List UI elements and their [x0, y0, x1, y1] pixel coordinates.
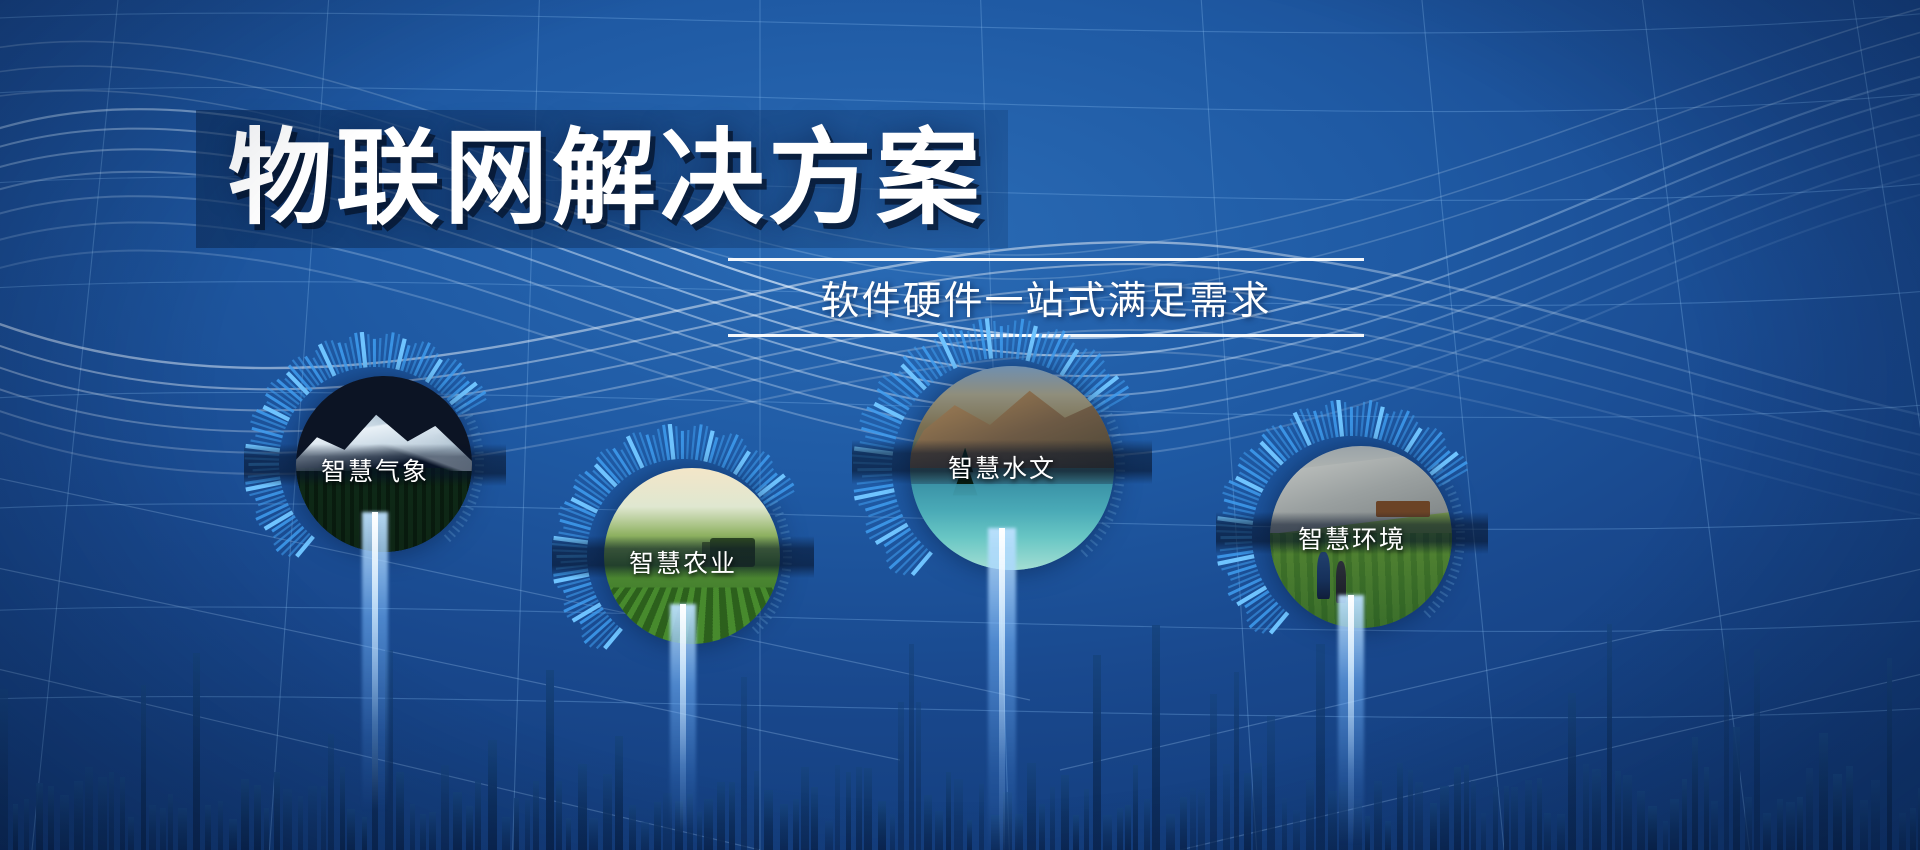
equalizer-bar: [141, 685, 146, 850]
equalizer-bar: [85, 767, 93, 850]
equalizer-bar: [420, 814, 426, 850]
equalizer-bar: [1557, 814, 1565, 850]
equalizer-bar: [109, 772, 114, 850]
equalizer-bar: [1763, 813, 1771, 850]
equalizer-bar: [1504, 786, 1509, 850]
equalizer-bar: [1511, 787, 1518, 850]
equalizer-bar: [321, 786, 326, 850]
equalizer-bar: [1430, 803, 1437, 850]
equalizer-bar: [641, 822, 649, 850]
equalizer-bar: [1711, 801, 1718, 850]
equalizer-bar: [328, 734, 334, 850]
equalizer-bar: [864, 768, 872, 850]
equalizer-bar: [801, 767, 809, 850]
equalizer-bar: [878, 801, 886, 850]
badge-label: 智慧环境: [1216, 520, 1488, 556]
equalizer-bar: [466, 806, 473, 850]
equalizer-bar: [98, 777, 107, 850]
equalizer-bar: [340, 767, 345, 850]
equalizer-bar: [1039, 804, 1045, 850]
badge-label: 智慧农业: [552, 544, 814, 580]
equalizer-bar: [1253, 763, 1262, 850]
equalizer-bar: [1525, 780, 1532, 850]
equalizer-bar: [1493, 787, 1498, 850]
equalizer-bar: [1464, 765, 1469, 850]
equalizer-bar: [697, 812, 702, 850]
equalizer-bar: [488, 740, 497, 850]
equalizer-bar: [979, 784, 984, 850]
iot-solution-banner: 物联网解决方案 软件硬件一站式满足需求 智慧气象 智慧农业: [0, 0, 1920, 850]
equalizer-bar: [1093, 655, 1101, 850]
equalizer-bar: [229, 819, 237, 850]
equalizer-bar: [615, 736, 623, 850]
equalizer-bar: [362, 817, 367, 850]
equalizer-bar: [1198, 790, 1205, 850]
equalizer-bar: [825, 821, 833, 850]
equalizer-bar: [441, 765, 449, 850]
equalizer-bar: [1234, 672, 1239, 850]
equalizer-bar: [1180, 797, 1187, 850]
equalizer-bar: [48, 786, 54, 850]
equalizer-bar: [205, 805, 211, 850]
equalizer-bar: [453, 792, 462, 850]
equalizer-bar: [1282, 798, 1287, 850]
badge-environment[interactable]: 智慧环境: [1216, 400, 1488, 672]
equalizer-bar: [218, 801, 223, 850]
equalizer-bar: [1152, 625, 1160, 850]
equalizer-bar: [1592, 769, 1601, 850]
equalizer-bar: [1797, 797, 1803, 850]
equalizer-bar: [1637, 791, 1645, 850]
equalizer-bar: [396, 772, 404, 850]
equalizer-bar: [254, 785, 261, 850]
equalizer-bar: [149, 805, 156, 850]
equalizer-bar: [1607, 624, 1612, 850]
equalizer-bar: [967, 820, 972, 850]
equalizer-bar: [1210, 694, 1217, 850]
equalizer-bar: [1385, 821, 1391, 850]
equalizer-bar: [1648, 806, 1657, 850]
equalizer-bar: [1481, 813, 1486, 850]
equalizer-bar: [1806, 768, 1813, 850]
equalizer-bar: [935, 811, 943, 850]
equalizer-bar: [1670, 799, 1679, 850]
equalizer-bar: [898, 702, 904, 850]
equalizer-bar: [514, 798, 519, 850]
equalizer-bar: [347, 809, 355, 850]
equalizer-bar: [178, 808, 187, 850]
equalizer-bar: [566, 818, 571, 850]
equalizer-bar: [1050, 787, 1055, 850]
equalizer-bar: [1166, 814, 1175, 850]
equalizer-bar: [764, 790, 773, 850]
light-beam-core: [372, 512, 378, 812]
equalizer-bar: [717, 782, 725, 850]
equalizer-bar: [1819, 733, 1828, 850]
equalizer-bar: [1754, 649, 1760, 850]
badge-weather[interactable]: 智慧气象: [244, 332, 506, 594]
equalizer-bar: [1537, 778, 1542, 850]
equalizer-bar: [946, 772, 951, 850]
equalizer-bar: [741, 677, 747, 850]
badge-hydrology[interactable]: 智慧水文: [852, 318, 1152, 618]
equalizer-bar: [1846, 766, 1853, 850]
light-beam-core: [999, 528, 1005, 850]
equalizer-bar: [1786, 802, 1795, 850]
equalizer-bar: [168, 794, 173, 850]
equalizer-bar: [525, 798, 530, 850]
equalizer-bar: [1125, 805, 1131, 850]
equalizer-bar: [1365, 816, 1370, 850]
equalizer-bar: [1103, 815, 1112, 850]
equalizer-bar: [60, 795, 69, 850]
equalizer-bar: [13, 804, 18, 850]
equalizer-bar: [1027, 763, 1036, 850]
equalizer-bar: [1306, 780, 1314, 850]
equalizer-bar: [780, 804, 788, 850]
equalizer-bar: [1415, 782, 1423, 850]
equalizer-bar: [1899, 813, 1906, 850]
equalizer-bar: [578, 764, 587, 850]
equalizer-bar: [1871, 780, 1880, 850]
equalizer-bar: [1777, 799, 1783, 850]
equalizer-bar: [1267, 716, 1275, 850]
equalizer-bar: [811, 787, 818, 850]
equalizer-bar: [1133, 765, 1138, 850]
subtitle-rule-top: [728, 258, 1364, 261]
equalizer-bar: [120, 777, 125, 850]
equalizer-bar: [1544, 813, 1551, 850]
equalizer-bar: [916, 702, 921, 850]
equalizer-bar: [589, 818, 598, 850]
equalizer-bar: [24, 799, 29, 850]
equalizer-bar: [1682, 779, 1687, 850]
equalizer-bar: [1454, 767, 1461, 850]
equalizer-bar: [283, 789, 292, 850]
equalizer-bar: [846, 772, 851, 850]
equalizer-bar: [74, 781, 83, 850]
equalizer-bar: [475, 780, 481, 850]
equalizer-bar: [1833, 774, 1842, 850]
equalizer-bar: [1144, 799, 1150, 850]
equalizer-bar: [1733, 727, 1740, 850]
equalizer-bar: [264, 808, 269, 850]
equalizer-bar: [1887, 658, 1892, 850]
equalizer-bar: [729, 782, 735, 850]
equalizer-bar: [924, 795, 932, 850]
equalizer-bar: [1623, 775, 1632, 850]
equalizer-bar: [603, 774, 612, 850]
equalizer-bar: [1374, 781, 1382, 850]
light-beam-core: [1348, 595, 1354, 845]
equalizer-bar: [1615, 771, 1621, 850]
equalizer-bar: [1910, 808, 1916, 850]
equalizer-bar: [410, 804, 415, 850]
equalizer-bar: [1190, 788, 1196, 850]
equalizer-bar: [1117, 808, 1123, 850]
equalizer-bar: [1745, 797, 1752, 850]
equalizer-bar: [793, 799, 799, 850]
equalizer-bar: [1471, 781, 1476, 850]
equalizer-bar: [1084, 789, 1089, 850]
equalizer-bar: [429, 812, 436, 850]
equalizer-bar: [1663, 821, 1668, 850]
equalizer-bar: [556, 781, 562, 850]
equalizer-bar: [1293, 810, 1300, 850]
equalizer-bar: [954, 779, 963, 850]
badge-agriculture[interactable]: 智慧农业: [552, 424, 814, 686]
equalizer-bar: [1408, 770, 1413, 850]
equalizer-bar: [1223, 764, 1230, 850]
equalizer-bar: [160, 808, 166, 850]
equalizer-bar: [298, 796, 303, 850]
equalizer-bar: [1061, 775, 1069, 850]
equalizer-bar: [502, 817, 510, 850]
page-title: 物联网解决方案: [228, 118, 984, 241]
equalizer-bar: [241, 779, 249, 850]
equalizer-bar: [654, 802, 661, 850]
equalizer-bar: [835, 765, 840, 850]
equalizer-bar: [1583, 764, 1589, 850]
equalizer-bar: [1397, 763, 1403, 850]
equalizer-bar: [193, 653, 200, 850]
equalizer-bar: [1073, 815, 1079, 850]
equalizer-bar: [754, 771, 759, 850]
equalizer-bar: [1704, 767, 1709, 850]
equalizer-bar: [890, 814, 895, 850]
equalizer-bar: [1860, 800, 1868, 850]
equalizer-bar: [856, 767, 862, 850]
equalizer-bar: [274, 772, 280, 850]
equalizer-bar: [629, 805, 636, 850]
equalizer-bar: [909, 644, 914, 850]
light-beam-core: [680, 604, 686, 834]
equalizer-bar: [1440, 786, 1449, 850]
equalizer-bar: [546, 670, 554, 850]
equalizer-bar: [1244, 773, 1251, 850]
badge-label: 智慧水文: [852, 449, 1152, 485]
equalizer-bar: [1568, 693, 1576, 850]
equalizer-bar: [0, 689, 8, 850]
equalizer-bar: [36, 783, 43, 850]
equalizer-bar: [1015, 814, 1023, 850]
equalizer-bar: [533, 781, 539, 850]
equalizer-bar: [704, 799, 713, 850]
equalizer-bars: [0, 620, 1920, 850]
equalizer-bar: [1724, 639, 1729, 850]
badge-label: 智慧气象: [244, 452, 506, 488]
equalizer-bar: [1692, 737, 1698, 850]
equalizer-bar: [1328, 791, 1337, 850]
equalizer-bar: [308, 786, 317, 850]
equalizer-bar: [128, 817, 134, 850]
